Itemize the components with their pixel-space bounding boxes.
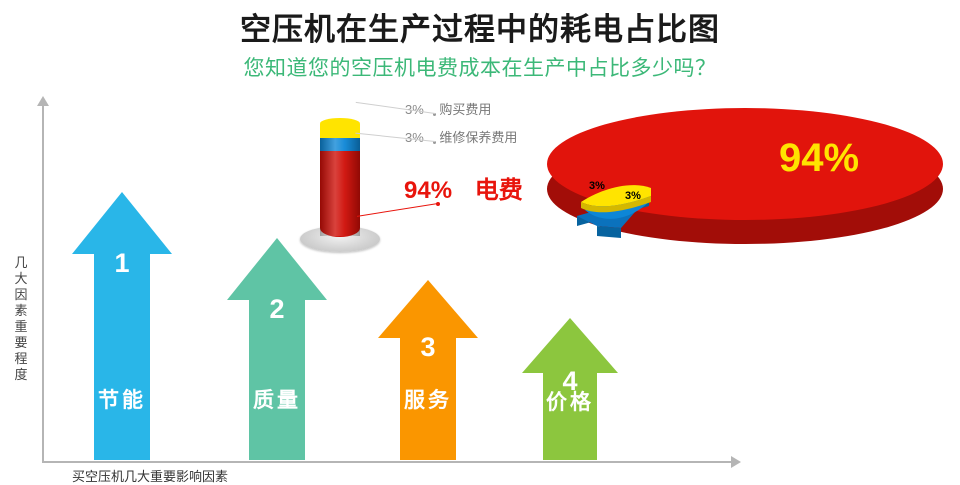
page-title: 空压机在生产过程中的耗电占比图 <box>0 4 960 49</box>
callout-power-label: 电费 <box>475 177 523 204</box>
bar-arrow-2: 2 质量 <box>227 238 327 460</box>
pie-chart: 3% 3% 94% <box>547 108 943 253</box>
cylinder-segment-purchase <box>320 124 360 138</box>
bar-arrow-3: 3 服务 <box>378 280 478 460</box>
pie-label-yellow: 3% <box>589 180 605 192</box>
cylinder-shading <box>320 138 360 236</box>
arrow-head-3 <box>378 280 478 338</box>
x-axis <box>42 461 732 463</box>
callout-power: 94% 电费 <box>404 170 523 205</box>
bar-arrow-1: 1 节能 <box>72 192 172 460</box>
y-axis <box>42 105 44 463</box>
arrow-head-4 <box>522 318 618 373</box>
y-axis-label: 几大因素重要程度 <box>10 255 32 383</box>
callout-purchase: 3% 购买费用 <box>405 99 491 118</box>
arrow-body-1 <box>94 254 150 460</box>
callout-purchase-label: 购买费用 <box>439 102 491 117</box>
bar-label-1: 节能 <box>72 384 172 414</box>
callout-power-pct: 94% <box>404 177 452 204</box>
pie-label-blue: 3% <box>625 190 641 202</box>
callout-maintenance-label: 维修保养费用 <box>439 130 517 145</box>
callout-maintenance: 3% 维修保养费用 <box>405 127 517 146</box>
x-axis-label: 买空压机几大重要影响因素 <box>72 466 228 485</box>
bar-rank-3: 3 <box>378 332 478 363</box>
stacked-cylinder <box>300 118 380 258</box>
page-subtitle: 您知道您的空压机电费成本在生产中占比多少吗？ <box>0 52 960 82</box>
bar-label-2: 质量 <box>227 384 327 414</box>
infographic-canvas: 空压机在生产过程中的耗电占比图 您知道您的空压机电费成本在生产中占比多少吗？ 几… <box>0 0 960 483</box>
bar-label-4: 价格 <box>522 386 618 416</box>
bar-rank-1: 1 <box>72 248 172 279</box>
bar-label-3: 服务 <box>378 384 478 414</box>
bar-arrow-4: 4 价格 <box>522 318 618 460</box>
arrow-head-1 <box>72 192 172 254</box>
bar-rank-2: 2 <box>227 294 327 325</box>
pie-label-power: 94% <box>779 136 859 181</box>
